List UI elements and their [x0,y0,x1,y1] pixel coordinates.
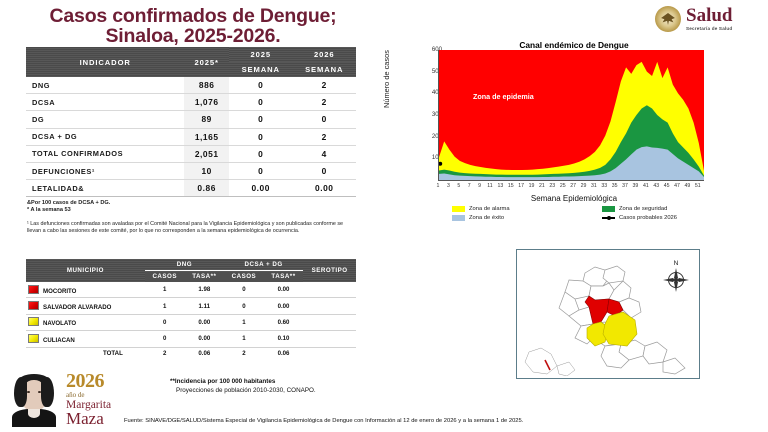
cell-semana-2026: 4 [292,145,356,162]
col-header-dcsa-tasa: TASA** [264,271,303,283]
chart-x-tick: 37 [622,183,628,189]
chart-x-tick: 17 [518,183,524,189]
legend-item: Zona de seguridad [602,206,752,212]
cell-dcsa-casos: 1 [224,314,264,330]
cell-semana-2025: 0 [229,77,293,94]
table-indicadores-body: DNG88602DCSA1,07602DG8900DCSA + DG1,1650… [26,77,356,197]
cell-indicador: TOTAL CONFIRMADOS [26,145,184,162]
table-municipios-body: MOCORITO11.9800.00SALVADOR ALVARADO11.11… [26,282,356,360]
salud-subtitle: Secretaría de Salud [686,27,732,32]
cell-2025: 10 [184,162,229,179]
chart-y-axis-label: Número de casos [382,50,391,108]
chart-annotation-zona-epidemia: Zona de epidemia [473,92,534,101]
cell-dcsa-tasa: 0.00 [264,298,303,314]
note-incidencia-line-1: **Incidencia por 100 000 habitantes [170,377,316,386]
chart-x-tick: 21 [539,183,545,189]
cell-dng-casos: 1 [145,298,185,314]
chart-x-tick: 43 [653,183,659,189]
cell-municipio: CULIACAN [26,331,145,347]
chart-x-tick: 41 [643,183,649,189]
cell-dng-casos: 0 [145,331,185,347]
col-header-dng-tasa: TASA** [185,271,224,283]
cell-dng-tasa: 1.11 [185,298,224,314]
cell-serotipo [303,331,356,347]
cell-indicador: DG [26,111,184,128]
chart-series-svg [439,50,704,180]
cell-semana-2026: 2 [292,77,356,94]
table-row: DNG88602 [26,77,356,94]
municipio-label: MOCORITO [43,288,76,295]
cell-dng-casos: 0 [145,314,185,330]
chart-x-tick: 23 [549,183,555,189]
cell-indicador: DCSA + DG [26,128,184,145]
chart-x-tick: 27 [570,183,576,189]
color-swatch-icon [28,317,39,326]
table-indicadores-head: INDICADOR 2025* 2025 2026 SEMANA SEMANA [26,47,356,77]
cell-indicador: LETALIDAD& [26,180,184,197]
chart-x-tick: 9 [478,183,481,189]
cell-serotipo [303,282,356,298]
legend-item: Zona de éxito [452,215,602,221]
chart-x-tick: 1 [437,183,440,189]
chart-x-tick: 11 [487,183,492,189]
cell-dcsa-casos: 1 [224,331,264,347]
table-indicadores: INDICADOR 2025* 2025 2026 SEMANA SEMANA … [26,47,356,197]
cell-2025: 886 [184,77,229,94]
cell-indicador: DNG [26,77,184,94]
table-row: DEFUNCIONES¹1000 [26,162,356,179]
cell-total-serotipo [303,347,356,360]
legend-label: Casos probables 2026 [619,215,677,221]
cell-serotipo [303,298,356,314]
cell-semana-2025: 0 [229,94,293,111]
cell-2025: 1,076 [184,94,229,111]
col-header-serotipo: SEROTIPO [303,259,356,282]
col-header-municipio: MUNICIPIO [26,259,145,282]
margarita-portrait-icon [8,371,60,427]
cell-indicador: DEFUNCIONES¹ [26,162,184,179]
margarita-ano-de: año de [66,392,111,399]
table-row: DCSA + DG1,16502 [26,128,356,145]
chart-x-axis-label: Semana Epidemiológica [388,194,760,203]
chart-x-tick: 45 [664,183,670,189]
cell-2025: 89 [184,111,229,128]
legend-line-marker-icon [602,215,615,221]
table-municipios: MUNICIPIO DNG DCSA + DG SEROTIPO CASOS T… [26,259,356,360]
chart-plot-area: Zona de epidemia [438,50,704,181]
chart-x-tick: 29 [581,183,587,189]
cell-semana-2026: 0.00 [292,180,356,197]
municipio-label: SALVADOR ALVARADO [43,304,111,311]
legend-label: Zona de seguridad [619,206,667,212]
note-incidencia: **Incidencia por 100 000 habitantes Proy… [170,377,316,395]
legend-item: Zona de alarma [452,206,602,212]
legend-color-swatch-icon [452,206,465,212]
chart-x-ticks: 1357911131517192123252729313335373941434… [438,183,703,193]
cell-total-dcsa-casos: 2 [224,347,264,360]
chart-x-tick: 3 [447,183,450,189]
chart-x-tick: 33 [601,183,607,189]
municipio-label: NAVOLATO [43,320,76,327]
cell-total-label: TOTAL [26,347,145,360]
color-swatch-icon [28,285,39,294]
table-row: DCSA1,07602 [26,94,356,111]
legend-row: Zona de éxitoCasos probables 2026 [452,215,752,221]
cell-dng-tasa: 1.98 [185,282,224,298]
col-header-2026-semana-l2: SEMANA [292,62,356,77]
table-row-total: TOTAL20.0620.06 [26,347,356,360]
color-swatch-icon [28,334,39,343]
chart-x-tick: 7 [468,183,471,189]
page-title: Casos confirmados de Dengue; Sinaloa, 20… [18,6,368,46]
col-header-dng: DNG [145,259,224,271]
chart-x-tick: 5 [457,183,460,189]
table-row: LETALIDAD&0.860.000.00 [26,180,356,197]
cell-dcsa-casos: 0 [224,298,264,314]
cell-2025: 1,165 [184,128,229,145]
chart-x-tick: 51 [695,183,701,189]
col-header-dcsa-dg: DCSA + DG [224,259,303,271]
legend-label: Zona de alarma [469,206,510,212]
cell-2025: 2,051 [184,145,229,162]
col-header-dcsa-casos: CASOS [224,271,264,283]
table-row: SALVADOR ALVARADO11.1100.00 [26,298,356,314]
cell-dng-casos: 1 [145,282,185,298]
fuente-text: Fuente: SINAVE/DGE/SALUD/Sistema Especia… [124,418,523,424]
salud-word: Salud [686,6,732,25]
map-sinaloa: N [516,249,700,379]
chart-x-tick: 13 [497,183,503,189]
table-municipios-head: MUNICIPIO DNG DCSA + DG SEROTIPO CASOS T… [26,259,356,282]
chart-legend: Zona de alarmaZona de seguridadZona de é… [452,206,752,224]
cell-semana-2026: 2 [292,128,356,145]
chart-x-tick: 25 [560,183,566,189]
color-swatch-icon [28,301,39,310]
table2-header-row-1: MUNICIPIO DNG DCSA + DG SEROTIPO [26,259,356,271]
table-row: DG8900 [26,111,356,128]
cell-dng-tasa: 0.00 [185,331,224,347]
chart-x-tick: 49 [685,183,691,189]
table-row: TOTAL CONFIRMADOS2,05104 [26,145,356,162]
map-inset-islands [525,348,575,376]
margarita-last-name: Maza [66,410,111,427]
table-row: NAVOLATO00.0010.60 [26,314,356,330]
cell-semana-2025: 0 [229,162,293,179]
col-header-indicador: INDICADOR [26,47,184,77]
cell-dcsa-tasa: 0.10 [264,331,303,347]
footnote-line-2: * A la semana 53 [27,207,110,214]
cell-serotipo [303,314,356,330]
col-header-2026-semana-l1: 2026 [292,47,356,62]
chart-title: Canal endémico de Dengue [388,40,760,50]
salud-wordmark: Salud Secretaría de Salud [686,6,732,32]
cell-total-dcsa-tasa: 0.06 [264,347,303,360]
salud-logo: Salud Secretaría de Salud [655,2,767,36]
col-header-dng-casos: CASOS [145,271,185,283]
cell-dcsa-tasa: 0.60 [264,314,303,330]
col-header-2025-semana-l1: 2025 [229,47,293,62]
col-header-2025: 2025* [184,47,229,77]
table-row: CULIACAN00.0010.10 [26,331,356,347]
compass-rose-icon: N [663,260,689,292]
note-incidencia-line-2: Proyecciones de población 2010-2030, CON… [170,386,316,395]
margarita-year: 2026 [66,371,111,391]
cell-semana-2026: 0 [292,111,356,128]
municipio-label: CULIACAN [43,337,75,344]
legend-row: Zona de alarmaZona de seguridad [452,206,752,212]
cell-dng-tasa: 0.00 [185,314,224,330]
compass-north-label: N [663,260,689,267]
cell-dcsa-casos: 0 [224,282,264,298]
chart-x-tick: 47 [674,183,680,189]
chart-x-tick: 35 [612,183,618,189]
cell-semana-2026: 0 [292,162,356,179]
cell-semana-2026: 2 [292,94,356,111]
cell-municipio: SALVADOR ALVARADO [26,298,145,314]
col-header-2025-semana-l2: SEMANA [229,62,293,77]
slide-root: Salud Secretaría de Salud Casos confirma… [0,0,768,432]
chart-x-tick: 31 [591,183,597,189]
legend-color-swatch-icon [452,215,465,221]
cell-2025: 0.86 [184,180,229,197]
table-row: MOCORITO11.9800.00 [26,282,356,298]
legend-label: Zona de éxito [469,215,504,221]
cell-semana-2025: 0 [229,145,293,162]
legend-color-swatch-icon [602,206,615,212]
cell-semana-2025: 0 [229,128,293,145]
chart-x-tick: 15 [508,183,514,189]
legend-item: Casos probables 2026 [602,215,752,221]
chart-x-tick: 39 [633,183,639,189]
footnote-defunciones: ¹ Las defunciones confirmadas son avalad… [27,221,347,235]
chart-x-tick: 19 [529,183,535,189]
cell-indicador: DCSA [26,94,184,111]
margarita-text: 2026 año de Margarita Maza [66,371,111,428]
cell-total-dng-casos: 2 [145,347,185,360]
cell-dcsa-tasa: 0.00 [264,282,303,298]
cell-semana-2025: 0 [229,111,293,128]
cell-municipio: NAVOLATO [26,314,145,330]
mexico-eagle-emblem-icon [655,6,681,32]
footnote-line-1: &Por 100 casos de DCSA + DG. [27,200,110,207]
cell-total-dng-tasa: 0.06 [185,347,224,360]
footnote-short: &Por 100 casos de DCSA + DG. * A la sema… [27,200,110,215]
table-header-row: INDICADOR 2025* 2025 2026 [26,47,356,62]
cell-semana-2025: 0.00 [229,180,293,197]
cell-municipio: MOCORITO [26,282,145,298]
